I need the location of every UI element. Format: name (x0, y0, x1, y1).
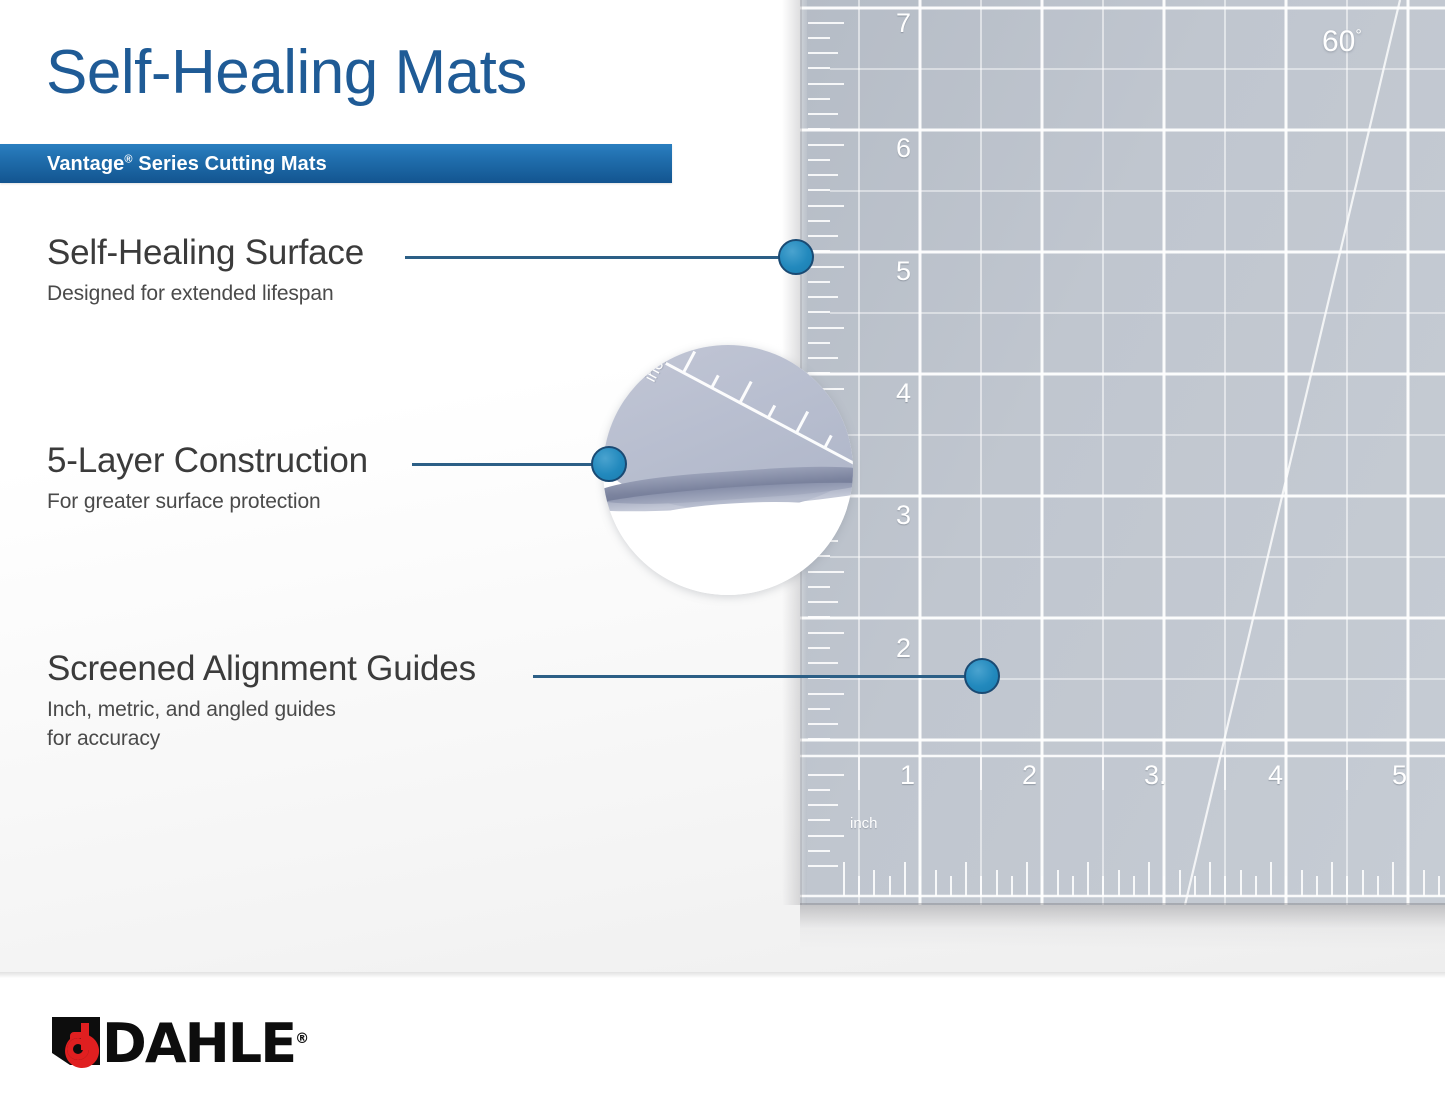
series-banner: Vantage® Series Cutting Mats (0, 144, 672, 183)
feature-title: Self-Healing Surface (47, 232, 364, 274)
mat-bottom-shadow (800, 903, 1445, 949)
mat-angle-label-60: 60° (1322, 25, 1362, 59)
mat-horizontal-label-4: 4 (1268, 760, 1283, 791)
mat-vertical-label-6: 6 (896, 133, 911, 164)
dahle-logo: DAHLE® (48, 1011, 309, 1071)
mat-vertical-label-5: 5 (896, 256, 911, 287)
cutting-mat-image: 7 6 5 4 3 2 1 2 3. 4 5 inch 60° (800, 0, 1445, 905)
leader-line-3 (533, 675, 983, 678)
mat-unit-label-inch: inch (850, 815, 878, 832)
brand-name: DAHLE (102, 1012, 295, 1075)
mat-vertical-label-2: 2 (896, 633, 911, 664)
banner-trademark-icon: ® (124, 153, 132, 165)
banner-suffix: Series Cutting Mats (133, 153, 327, 175)
magnifier-closeup: inch (603, 345, 853, 595)
feature-screened-alignment-guides: Screened Alignment Guides Inch, metric, … (47, 648, 476, 753)
feature-title: 5-Layer Construction (47, 440, 368, 482)
mat-vertical-label-4: 4 (896, 378, 911, 409)
callout-dot-3[interactable] (964, 658, 1000, 694)
mat-vertical-label-7: 7 (896, 8, 911, 39)
banner-brand-name: Vantage (47, 153, 124, 175)
mat-vertical-label-3: 3 (896, 500, 911, 531)
page-title: Self-Healing Mats (46, 36, 527, 110)
callout-dot-1[interactable] (778, 239, 814, 275)
angle-value: 60 (1322, 25, 1355, 58)
dahle-logo-mark-icon (48, 1013, 104, 1069)
feature-subtitle: For greater surface protection (47, 487, 368, 516)
callout-dot-2[interactable] (591, 446, 627, 482)
degree-symbol-icon: ° (1355, 27, 1361, 44)
infographic-page: Self-Healing Mats Vantage® Series Cuttin… (0, 0, 1445, 1117)
content-panel: Self-Healing Mats Vantage® Series Cuttin… (0, 0, 1445, 978)
feature-title: Screened Alignment Guides (47, 648, 476, 690)
registered-trademark-icon: ® (295, 1031, 309, 1047)
panel-bottom-edge (0, 972, 1445, 978)
feature-subtitle: Designed for extended lifespan (47, 279, 364, 308)
feature-subtitle: Inch, metric, and angled guides for accu… (47, 695, 476, 753)
mat-horizontal-label-2: 2 (1022, 760, 1037, 791)
feature-self-healing-surface: Self-Healing Surface Designed for extend… (47, 232, 364, 308)
mat-horizontal-label-3: 3. (1144, 760, 1167, 791)
leader-line-2 (412, 463, 610, 466)
mat-horizontal-label-1: 1 (900, 760, 915, 791)
feature-5-layer-construction: 5-Layer Construction For greater surface… (47, 440, 368, 516)
leader-line-1 (405, 256, 797, 259)
series-banner-label: Vantage® Series Cutting Mats (47, 153, 327, 176)
mat-horizontal-label-5: 5 (1392, 760, 1407, 791)
dahle-logo-text: DAHLE® (102, 1011, 309, 1072)
